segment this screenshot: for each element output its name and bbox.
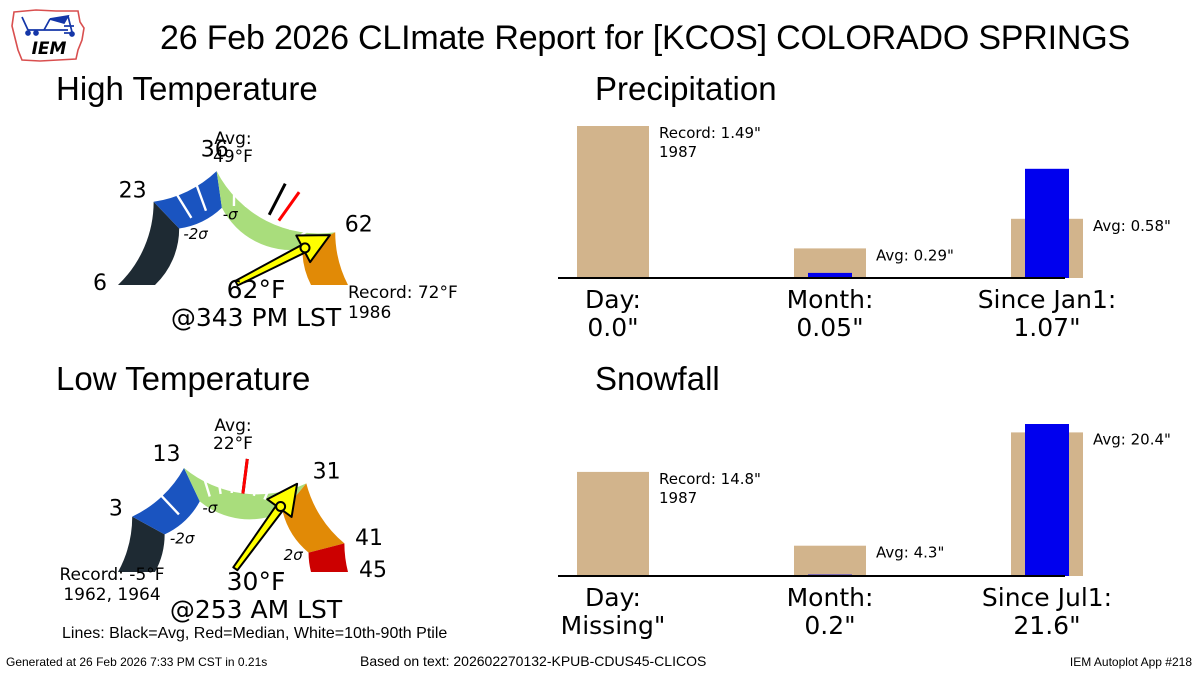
gauge-tick-label: 41 bbox=[355, 526, 383, 551]
bar-value-label: 0.05" bbox=[796, 313, 863, 342]
gauge-avg-caption: Avg: bbox=[214, 416, 251, 436]
gauge-avg-value: 22°F bbox=[213, 434, 253, 454]
gauge-low-temperature: Avg:22°F313314145-2σ-σ2σ 30°F@253 AM LST… bbox=[0, 398, 520, 648]
gauge-decile-tick bbox=[254, 462, 263, 496]
bar-reference-sublabel: 1987 bbox=[659, 489, 697, 507]
bar-value-label: Missing" bbox=[561, 611, 666, 640]
footer-app-id: IEM Autoplot App #218 bbox=[1070, 655, 1192, 669]
gauge-decile-tick bbox=[289, 204, 314, 229]
bar-value-label: 1.07" bbox=[1013, 313, 1080, 342]
climate-report-page: IEM 26 Feb 2026 CLImate Report for [KCOS… bbox=[0, 0, 1200, 675]
bar-reference bbox=[794, 546, 866, 576]
panel-title-snowfall: Snowfall bbox=[595, 360, 720, 398]
bar-category-label: Month: bbox=[787, 285, 874, 314]
gauge-tick-label: 23 bbox=[119, 178, 147, 203]
gauge-needle-hub bbox=[300, 243, 309, 252]
panel-title-low-temperature: Low Temperature bbox=[56, 360, 310, 398]
gauge-decile-tick bbox=[231, 458, 232, 493]
gauge-readout-low: 30°F@253 AM LSTRecord: -5°F1962, 1964 bbox=[59, 565, 342, 624]
bar-category-label: Day: bbox=[585, 285, 641, 314]
bar-category-label: Since Jan1: bbox=[978, 285, 1117, 314]
gauge-tick-label: 13 bbox=[153, 442, 181, 467]
bar-reference-label: Record: 14.8" bbox=[659, 470, 761, 488]
bar-chart-precipitation: Record: 1.49"1987Day:0.0"Avg: 0.29"Month… bbox=[520, 108, 1200, 348]
gauge-median-line bbox=[279, 192, 299, 221]
footer-based-on-text: Based on text: 202602270132-KPUB-CDUS45-… bbox=[360, 653, 706, 669]
bar-category-label: Since Jul1: bbox=[982, 583, 1112, 612]
gauge-decile-tick bbox=[246, 173, 252, 208]
gauge-sigma-label: 2σ bbox=[284, 546, 304, 564]
gauge-tick-label: 6 bbox=[93, 271, 107, 296]
gauge-legend-note: Lines: Black=Avg, Red=Median, White=10th… bbox=[62, 625, 447, 643]
bar-observed bbox=[1025, 424, 1069, 576]
gauge-tick-label: 36 bbox=[201, 137, 229, 162]
bar-category-label: Day: bbox=[585, 583, 641, 612]
gauge-record-year: 1986 bbox=[348, 303, 391, 323]
bar-reference bbox=[577, 472, 649, 576]
gauge-decile-tick bbox=[258, 177, 269, 210]
gauge-sigma-label: -2σ bbox=[183, 225, 208, 243]
gauge-value-readout: 30°F bbox=[227, 567, 286, 596]
gauge-record-label: Record: -5°F bbox=[59, 565, 164, 585]
gauge-time-readout: @343 PM LST bbox=[171, 303, 342, 332]
gauge-tick-label: 3 bbox=[109, 496, 123, 521]
bar-reference-sublabel: 1987 bbox=[659, 143, 697, 161]
footer-generated-at: Generated at 26 Feb 2026 7:33 PM CST in … bbox=[6, 655, 267, 669]
gauge-tick-label: 62 bbox=[345, 212, 373, 237]
bar-reference-label: Avg: 4.3" bbox=[876, 544, 944, 562]
gauge-high-temperature: Avg:49°F6233662-2σ-σ 62°F@343 PM LSTReco… bbox=[0, 108, 520, 348]
logo-text: IEM bbox=[32, 39, 67, 59]
bar-observed bbox=[1025, 169, 1069, 278]
gauge-avg-line bbox=[269, 184, 285, 215]
bar-value-label: 0.0" bbox=[587, 313, 638, 342]
bar-value-label: 21.6" bbox=[1013, 611, 1080, 640]
iem-logo[interactable]: IEM bbox=[6, 6, 92, 64]
gauge-tick-label: 31 bbox=[313, 459, 341, 484]
bar-reference bbox=[577, 126, 649, 278]
bar-chart-snowfall: Record: 14.8"1987Day:Missing"Avg: 4.3"Mo… bbox=[520, 398, 1200, 648]
page-title: 26 Feb 2026 CLImate Report for [KCOS] CO… bbox=[100, 18, 1190, 58]
gauge-needle-hub bbox=[276, 502, 285, 511]
gauge-value-readout: 62°F bbox=[227, 275, 286, 304]
gauge-median-line bbox=[243, 459, 247, 494]
gauge-sigma-label: -σ bbox=[202, 499, 217, 517]
panel-title-high-temperature: High Temperature bbox=[56, 70, 318, 108]
bar-reference-label: Avg: 0.58" bbox=[1093, 217, 1171, 235]
bar-reference-label: Avg: 0.29" bbox=[876, 246, 954, 264]
bar-reference-label: Avg: 20.4" bbox=[1093, 430, 1171, 448]
gauge-sigma-label: -2σ bbox=[170, 529, 195, 547]
bar-value-label: 0.2" bbox=[804, 611, 855, 640]
gauge-time-readout: @253 AM LST bbox=[170, 595, 343, 624]
gauge-record-label: Record: 72°F bbox=[348, 283, 458, 303]
bar-reference-label: Record: 1.49" bbox=[659, 124, 761, 142]
gauge-sigma-label: -σ bbox=[223, 206, 238, 224]
bar-category-label: Month: bbox=[787, 583, 874, 612]
gauge-record-year: 1962, 1964 bbox=[63, 585, 160, 605]
panel-title-precipitation: Precipitation bbox=[595, 70, 777, 108]
gauge-tick-label: 45 bbox=[359, 558, 387, 583]
